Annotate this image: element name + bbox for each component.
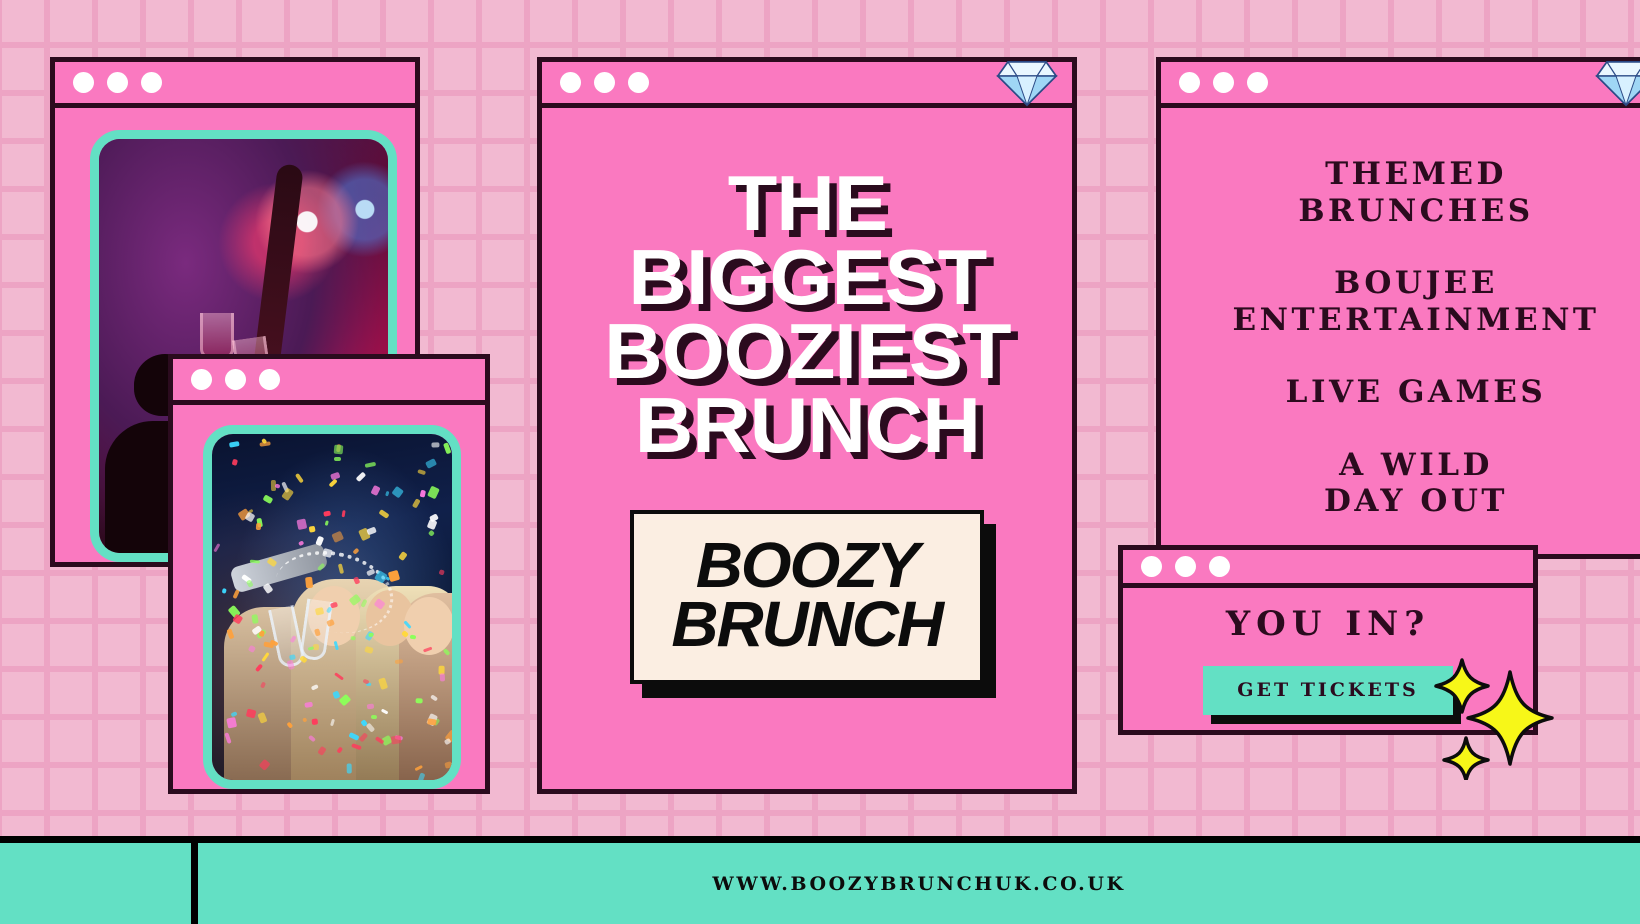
headline-window: THE BIGGEST BOOZIEST BRUNCH BOOZY BRUNCH bbox=[537, 57, 1077, 794]
window-titlebar bbox=[542, 62, 1072, 108]
window-dot-icon bbox=[141, 72, 162, 93]
confetti-speck bbox=[309, 525, 316, 532]
confetti-speck bbox=[347, 763, 352, 773]
footer-bar: WWW.BOOZYBRUNCHUK.CO.UK bbox=[0, 836, 1640, 924]
logo-line-boozy: BOOZY bbox=[672, 536, 943, 595]
confetti-speck bbox=[352, 547, 360, 555]
confetti-speck bbox=[249, 559, 259, 563]
confetti-speck bbox=[427, 486, 440, 500]
confetti-speck bbox=[440, 673, 445, 682]
confetti-speck bbox=[428, 530, 435, 537]
feature-item: A WILD DAY OUT bbox=[1324, 447, 1508, 520]
window-content: THE BIGGEST BOOZIEST BRUNCH BOOZY BRUNCH bbox=[542, 108, 1072, 789]
confetti-speck bbox=[425, 458, 437, 469]
confetti-speck bbox=[296, 473, 305, 483]
confetti-speck bbox=[443, 442, 451, 454]
window-dot-icon bbox=[560, 72, 581, 93]
poster-canvas: THE BIGGEST BOOZIEST BRUNCH BOOZY BRUNCH bbox=[0, 0, 1640, 924]
confetti-speck bbox=[256, 523, 261, 530]
confetti-speck bbox=[366, 526, 376, 534]
window-content bbox=[173, 405, 485, 789]
window-dot-icon bbox=[225, 369, 246, 390]
sparkle-icon bbox=[1436, 660, 1488, 712]
feature-item: LIVE GAMES bbox=[1286, 374, 1547, 411]
confetti-speck bbox=[365, 462, 376, 468]
get-tickets-button[interactable]: GET TICKETS bbox=[1203, 666, 1452, 715]
window-content: THEMED BRUNCHES BOUJEE ENTERTAINMENT LIV… bbox=[1161, 108, 1640, 554]
confetti-speck bbox=[418, 469, 427, 475]
window-dot-icon bbox=[73, 72, 94, 93]
photo-party-image bbox=[212, 434, 452, 780]
confetti-speck bbox=[325, 521, 329, 526]
confetti-speck bbox=[371, 715, 377, 719]
confetti-speck bbox=[229, 442, 240, 449]
feature-item: BOUJEE ENTERTAINMENT bbox=[1233, 265, 1600, 338]
confetti-speck bbox=[356, 471, 367, 482]
sparkle-cluster bbox=[1424, 650, 1554, 780]
confetti-speck bbox=[263, 495, 273, 504]
confetti-speck bbox=[213, 542, 221, 552]
confetti-speck bbox=[385, 491, 390, 497]
confetti-speck bbox=[438, 569, 445, 576]
confetti-speck bbox=[342, 510, 346, 517]
confetti-speck bbox=[222, 589, 227, 594]
sparkle-icon bbox=[1444, 738, 1488, 780]
confetti-speck bbox=[305, 701, 313, 707]
window-dot-icon bbox=[107, 72, 128, 93]
confetti-speck bbox=[297, 518, 307, 530]
confetti-speck bbox=[419, 490, 426, 498]
confetti-speck bbox=[392, 486, 405, 499]
confetti-speck bbox=[378, 508, 389, 518]
gem-icon bbox=[1595, 58, 1640, 108]
photo-detail bbox=[200, 313, 234, 359]
window-titlebar bbox=[1123, 550, 1533, 588]
cta-question: YOU IN? bbox=[1226, 604, 1430, 644]
confetti-speck bbox=[388, 570, 400, 582]
confetti-speck bbox=[233, 590, 240, 599]
brand-logo: BOOZY BRUNCH bbox=[630, 510, 983, 684]
website-url: WWW.BOOZYBRUNCHUK.CO.UK bbox=[712, 873, 1125, 895]
confetti-speck bbox=[334, 445, 344, 455]
confetti-speck bbox=[315, 536, 324, 547]
confetti-speck bbox=[412, 499, 421, 509]
confetti-speck bbox=[312, 718, 318, 725]
confetti-speck bbox=[431, 442, 440, 448]
confetti-speck bbox=[331, 531, 344, 543]
confetti-speck bbox=[263, 582, 273, 593]
features-window: THEMED BRUNCHES BOUJEE ENTERTAINMENT LIV… bbox=[1156, 57, 1640, 559]
window-dot-icon bbox=[1141, 556, 1162, 577]
window-titlebar bbox=[1161, 62, 1640, 108]
confetti-speck bbox=[251, 614, 258, 624]
confetti-speck bbox=[245, 512, 256, 523]
window-dot-icon bbox=[628, 72, 649, 93]
window-dot-icon bbox=[1179, 72, 1200, 93]
photo-window-party bbox=[168, 354, 490, 794]
window-titlebar bbox=[173, 359, 485, 405]
confetti-speck bbox=[232, 459, 238, 466]
footer-left-cell bbox=[0, 843, 198, 924]
confetti-speck bbox=[398, 551, 408, 561]
window-dot-icon bbox=[259, 369, 280, 390]
confetti-speck bbox=[298, 540, 304, 546]
window-dot-icon bbox=[1247, 72, 1268, 93]
confetti-speck bbox=[334, 457, 341, 461]
confetti-speck bbox=[426, 519, 437, 531]
logo-line-brunch: BRUNCH bbox=[672, 595, 943, 654]
headline-line: BIGGEST bbox=[604, 240, 1010, 314]
window-dot-icon bbox=[1209, 556, 1230, 577]
headline-line: BOOZIEST bbox=[604, 314, 1010, 388]
footer-url-cell: WWW.BOOZYBRUNCHUK.CO.UK bbox=[198, 843, 1640, 924]
page-title: THE BIGGEST BOOZIEST BRUNCH bbox=[604, 166, 1010, 462]
gem-icon bbox=[996, 58, 1058, 108]
confetti-speck bbox=[371, 485, 381, 496]
window-dot-icon bbox=[1213, 72, 1234, 93]
window-dot-icon bbox=[594, 72, 615, 93]
logo-box: BOOZY BRUNCH bbox=[630, 510, 983, 684]
photo-detail bbox=[404, 597, 454, 655]
confetti-speck bbox=[416, 698, 423, 704]
confetti-speck bbox=[368, 632, 374, 637]
window-dot-icon bbox=[191, 369, 212, 390]
feature-item: THEMED BRUNCHES bbox=[1298, 156, 1533, 229]
headline-line: THE bbox=[604, 166, 1010, 240]
confetti-speck bbox=[280, 488, 293, 502]
photo-frame-party bbox=[203, 425, 461, 789]
window-dot-icon bbox=[1175, 556, 1196, 577]
confetti-speck bbox=[329, 479, 338, 488]
window-titlebar bbox=[55, 62, 415, 108]
get-tickets-button-wrap: GET TICKETS bbox=[1203, 666, 1452, 715]
headline-line: BRUNCH bbox=[604, 388, 1010, 462]
confetti-speck bbox=[323, 511, 331, 517]
